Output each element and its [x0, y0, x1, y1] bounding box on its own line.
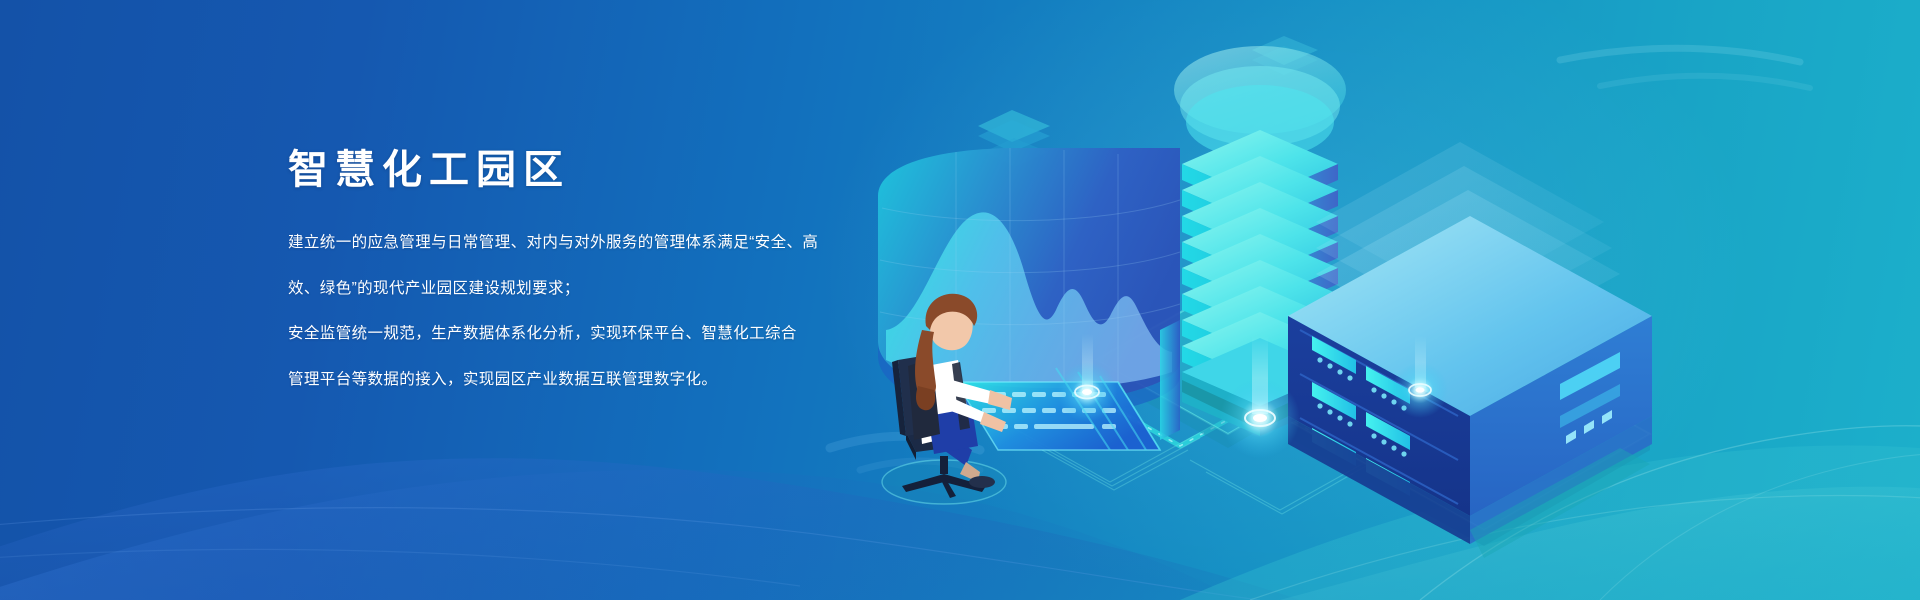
- isometric-illustration: [860, 30, 1920, 590]
- hero-description-line-3: 安全监管统一规范，生产数据体系化分析，实现环保平台、智慧化工综合: [288, 319, 888, 349]
- hero-description-line-4: 管理平台等数据的接入，实现园区产业数据互联管理数字化。: [288, 365, 888, 395]
- page-title: 智慧化工园区: [288, 148, 888, 192]
- hero-description-line-1: 建立统一的应急管理与日常管理、对内与对外服务的管理体系满足“安全、高: [288, 228, 888, 258]
- hero-description-line-2: 效、绿色”的现代产业园区建设规划要求；: [288, 274, 888, 304]
- hero-text-block: 智慧化工园区 建立统一的应急管理与日常管理、对内与对外服务的管理体系满足“安全、…: [288, 148, 888, 410]
- server-rack-block: [1288, 142, 1652, 558]
- hero-banner: 智慧化工园区 建立统一的应急管理与日常管理、对内与对外服务的管理体系满足“安全、…: [0, 0, 1920, 600]
- wave-left-thin-2: [0, 549, 800, 586]
- falling-data-streaks: [1400, 30, 1644, 176]
